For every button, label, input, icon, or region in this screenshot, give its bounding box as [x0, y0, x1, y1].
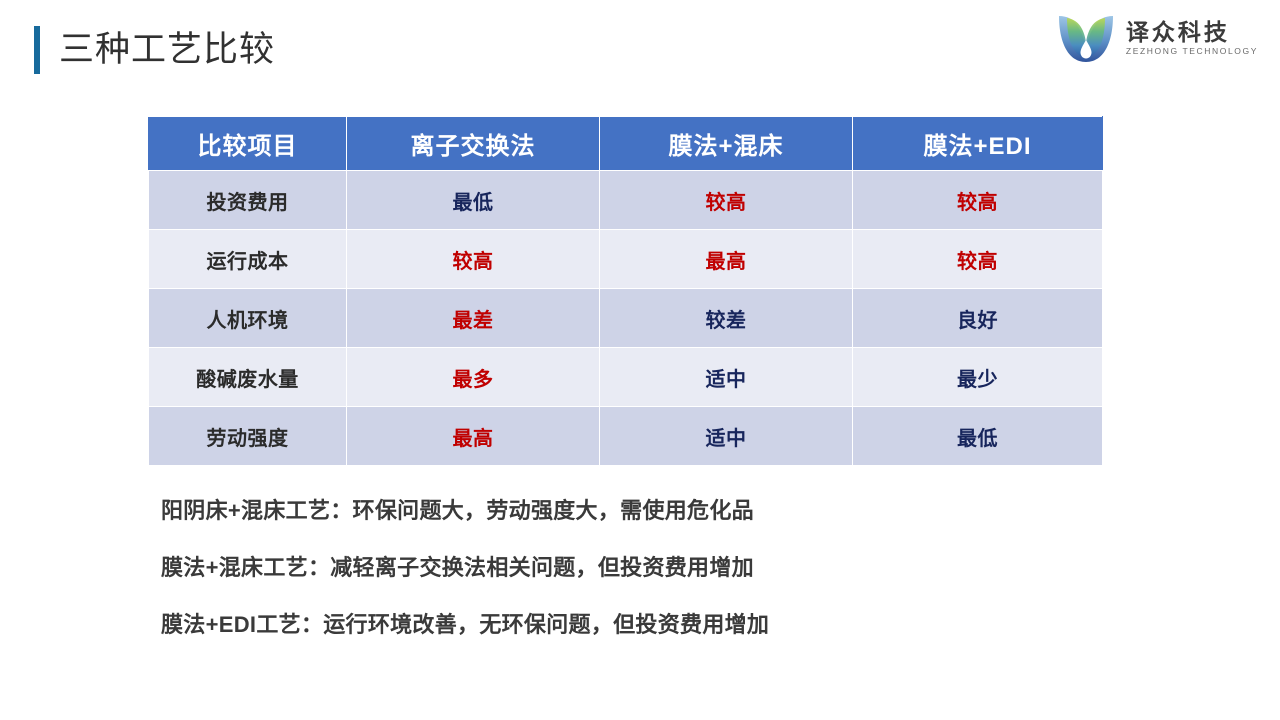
brand-name-cn: 译众科技: [1126, 19, 1258, 45]
row-label: 运行成本: [149, 230, 347, 289]
column-header-membrane-mixedbed: 膜法+混床: [600, 117, 853, 171]
cell-value: 适中: [600, 348, 853, 407]
cell-value: 最多: [347, 348, 600, 407]
cell-value: 最差: [347, 289, 600, 348]
table-row: 劳动强度 最高 适中 最低: [149, 407, 1103, 466]
brand-logo-text: 译众科技 ZEZHONG TECHNOLOGY: [1126, 19, 1258, 57]
cell-value: 较高: [853, 230, 1103, 289]
cell-value: 较高: [347, 230, 600, 289]
conclusion-notes: 阳阴床+混床工艺：环保问题大，劳动强度大，需使用危化品 膜法+混床工艺：减轻离子…: [161, 496, 769, 640]
column-header-membrane-edi: 膜法+EDI: [853, 117, 1103, 171]
cell-value: 良好: [853, 289, 1103, 348]
table-header-row: 比较项目 离子交换法 膜法+混床 膜法+EDI: [149, 117, 1103, 171]
cell-value: 适中: [600, 407, 853, 466]
table-row: 人机环境 最差 较差 良好: [149, 289, 1103, 348]
cell-value: 较高: [853, 171, 1103, 230]
table-head: 比较项目 离子交换法 膜法+混床 膜法+EDI: [149, 117, 1103, 171]
title-accent-bar: [34, 26, 40, 74]
cell-value: 较差: [600, 289, 853, 348]
table-row: 运行成本 较高 最高 较高: [149, 230, 1103, 289]
cell-value: 最低: [347, 171, 600, 230]
note-line: 膜法+EDI工艺：运行环境改善，无环保问题，但投资费用增加: [161, 610, 769, 640]
slide-root: 三种工艺比较: [0, 0, 1280, 720]
row-label: 劳动强度: [149, 407, 347, 466]
cell-value: 最少: [853, 348, 1103, 407]
page-title: 三种工艺比较: [34, 26, 275, 74]
cell-value: 最高: [600, 230, 853, 289]
comparison-table: 比较项目 离子交换法 膜法+混床 膜法+EDI 投资费用 最低 较高 较高 运行…: [148, 116, 1103, 466]
leaf-droplet-icon: [1055, 10, 1117, 66]
note-line: 膜法+混床工艺：减轻离子交换法相关问题，但投资费用增加: [161, 553, 769, 583]
note-line: 阳阴床+混床工艺：环保问题大，劳动强度大，需使用危化品: [161, 496, 769, 526]
column-header-item: 比较项目: [149, 117, 347, 171]
column-header-ion-exchange: 离子交换法: [347, 117, 600, 171]
cell-value: 最低: [853, 407, 1103, 466]
row-label: 人机环境: [149, 289, 347, 348]
brand-logo: 译众科技 ZEZHONG TECHNOLOGY: [1055, 10, 1258, 66]
cell-value: 最高: [347, 407, 600, 466]
table-row: 投资费用 最低 较高 较高: [149, 171, 1103, 230]
cell-value: 较高: [600, 171, 853, 230]
table-row: 酸碱废水量 最多 适中 最少: [149, 348, 1103, 407]
table-body: 投资费用 最低 较高 较高 运行成本 较高 最高 较高 人机环境 最差 较差 良…: [149, 171, 1103, 466]
brand-name-en: ZEZHONG TECHNOLOGY: [1126, 45, 1258, 57]
row-label: 投资费用: [149, 171, 347, 230]
title-text: 三种工艺比较: [59, 26, 275, 74]
row-label: 酸碱废水量: [149, 348, 347, 407]
